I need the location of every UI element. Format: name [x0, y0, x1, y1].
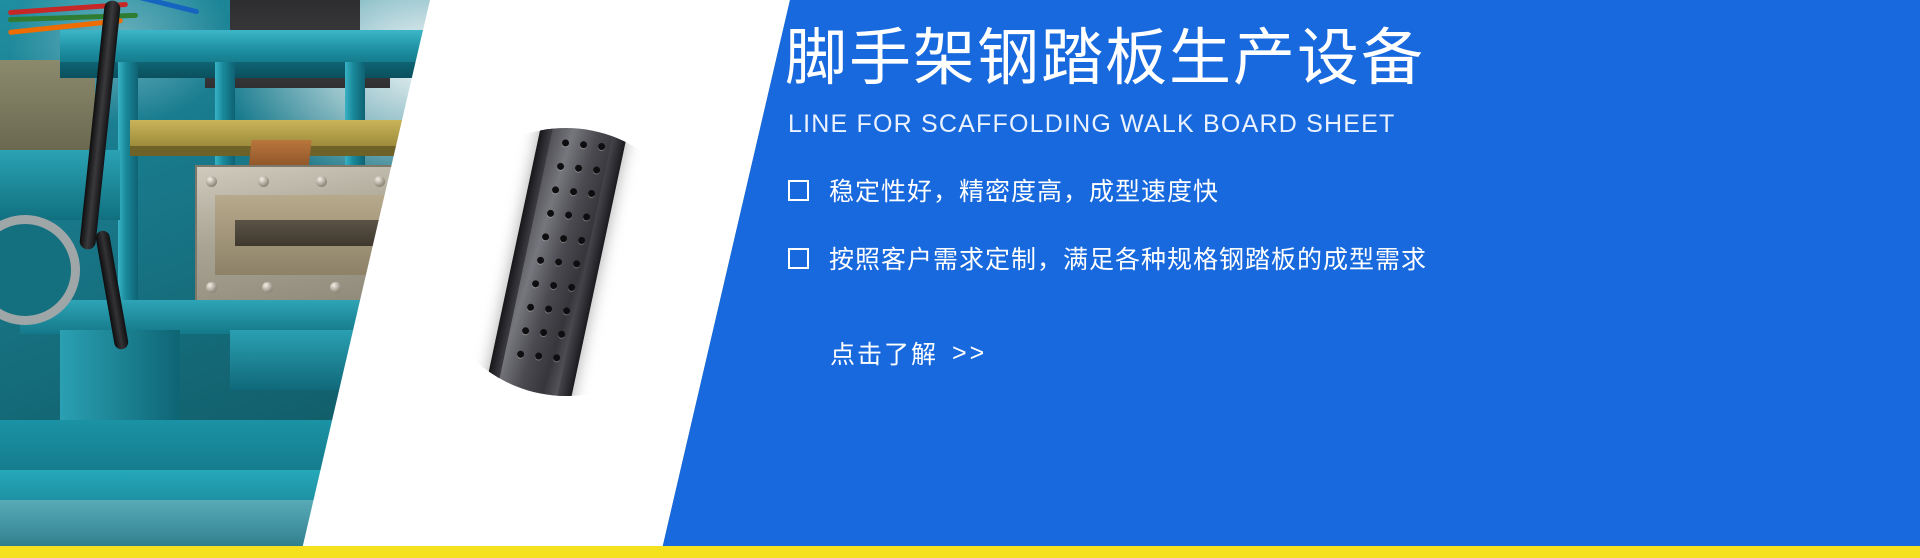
promo-banner: 脚手架钢踏板生产设备 LINE FOR SCAFFOLDING WALK BOA… — [0, 0, 1920, 558]
learn-more-label: 点击了解 — [830, 335, 938, 371]
steel-plank-product — [483, 128, 627, 396]
bottom-accent-strip — [0, 546, 1920, 558]
plank-end-lip — [490, 388, 562, 396]
bolt — [330, 282, 341, 293]
bolt — [316, 176, 327, 187]
plank-edge-right — [553, 131, 627, 396]
feature-bullet-2: 按照客户需求定制，满足各种规格钢踏板的成型需求 — [788, 240, 1427, 276]
feature-bullet-1-label: 稳定性好，精密度高，成型速度快 — [829, 172, 1219, 208]
bolt — [206, 176, 217, 187]
feature-bullet-1: 稳定性好，精密度高，成型速度快 — [788, 172, 1219, 208]
feature-bullet-2-label: 按照客户需求定制，满足各种规格钢踏板的成型需求 — [829, 240, 1427, 276]
text-panel: 脚手架钢踏板生产设备 LINE FOR SCAFFOLDING WALK BOA… — [785, 0, 1920, 546]
product-circle — [432, 128, 700, 396]
bolt — [258, 176, 269, 187]
bolt — [374, 176, 385, 187]
banner-title: 脚手架钢踏板生产设备 — [785, 28, 1425, 90]
square-outline-icon — [788, 248, 809, 269]
bolt — [262, 282, 273, 293]
chevron-right-icon: >> — [952, 339, 987, 368]
banner-subtitle: LINE FOR SCAFFOLDING WALK BOARD SHEET — [788, 110, 1395, 139]
bolt — [206, 282, 217, 293]
learn-more-link[interactable]: 点击了解 >> — [830, 335, 987, 371]
square-outline-icon — [788, 180, 809, 201]
